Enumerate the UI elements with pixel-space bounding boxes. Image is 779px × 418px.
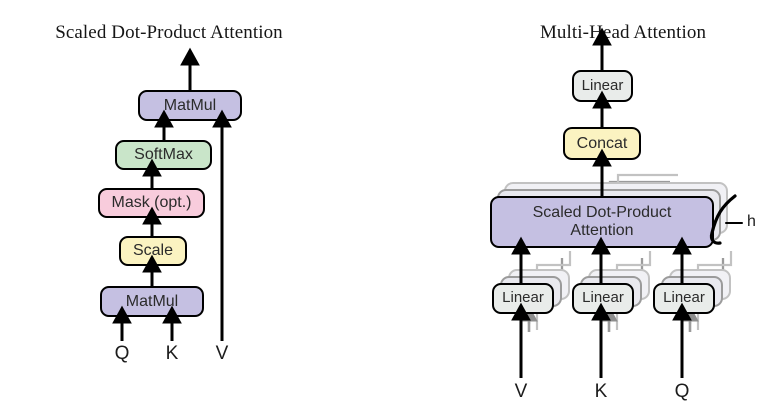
heads-brace [711, 196, 735, 243]
heads-count-label: h [747, 213, 756, 231]
input-label-k-left: K [157, 343, 187, 365]
input-label-k-right: K [586, 381, 616, 403]
input-label-v-right: V [506, 381, 536, 403]
input-label-q-left: Q [107, 343, 137, 365]
attention-architecture-figure: Scaled Dot-Product Attention Multi-Head … [0, 0, 779, 418]
input-label-q-right: Q [667, 381, 697, 403]
input-label-v-left: V [207, 343, 237, 365]
